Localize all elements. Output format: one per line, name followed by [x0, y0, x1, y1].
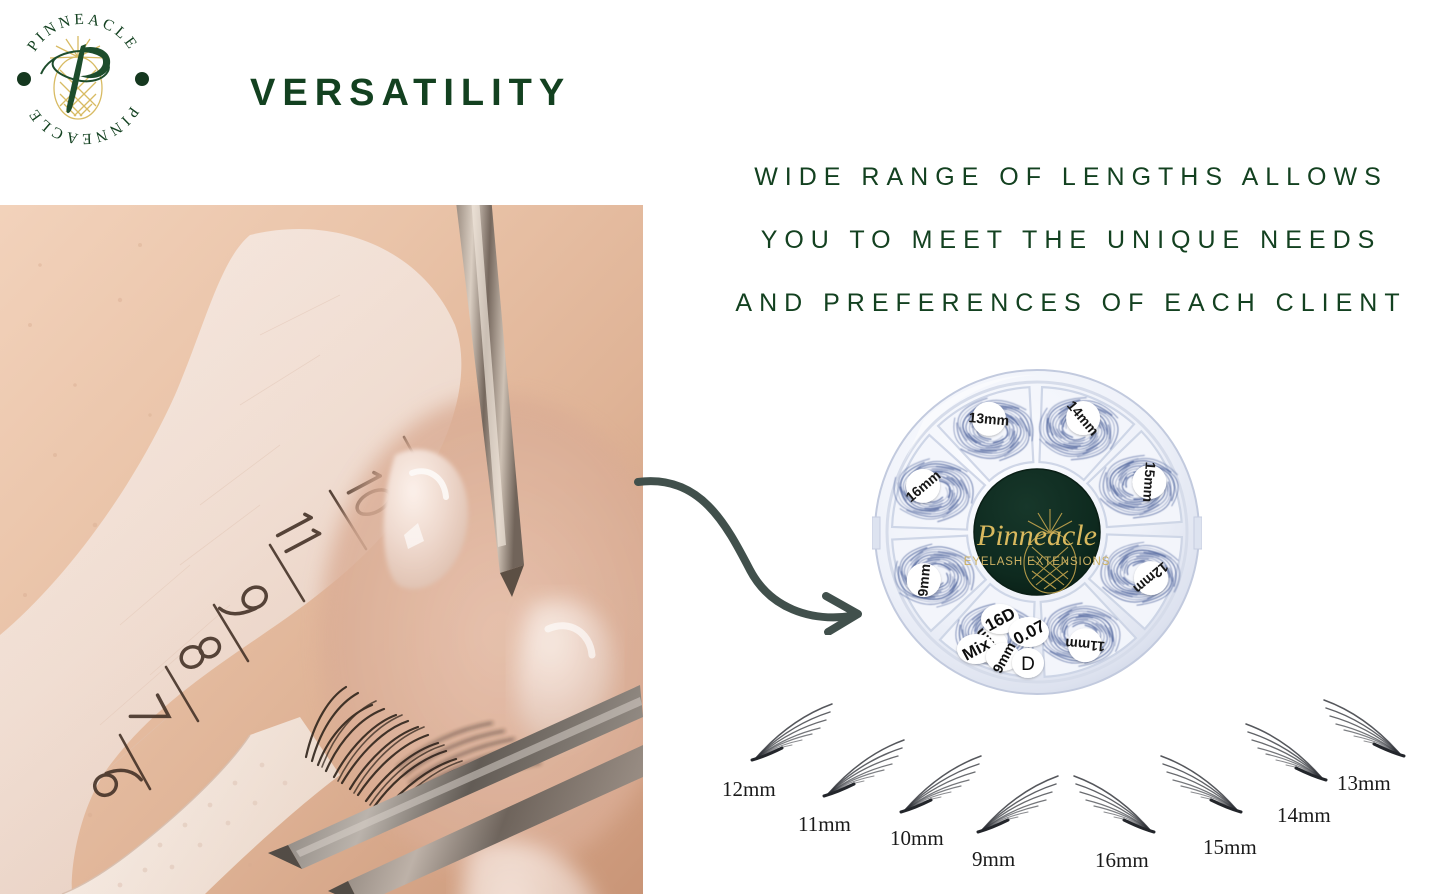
lash-fan-label-14mm: 14mm	[1277, 803, 1331, 828]
tray-sticker-9mm: 9mm	[907, 563, 941, 597]
lash-fan-15mm	[1155, 752, 1247, 818]
tray-brand-script: Pinneacle	[976, 519, 1097, 552]
tagline-block: WIDE RANGE OF LENGTHS ALLOWS YOU TO MEET…	[700, 146, 1442, 335]
logo-dot-right	[135, 72, 149, 86]
spec-sticker-D: D	[1012, 648, 1044, 678]
lash-fan-label-9mm: 9mm	[972, 847, 1015, 872]
logo-dot-left	[17, 72, 31, 86]
svg-text:9mm: 9mm	[914, 563, 933, 597]
lash-extension-tray[interactable]: Pinneacle EYELASH EXTENSIONS 14mm15mm12m…	[872, 367, 1202, 697]
tagline-line-1: WIDE RANGE OF LENGTHS ALLOWS	[700, 146, 1442, 209]
lash-fan-label-10mm: 10mm	[890, 826, 944, 851]
svg-text:D: D	[1021, 654, 1035, 675]
lash-fan-label-11mm: 11mm	[798, 812, 851, 837]
tagline-line-3: AND PREFERENCES OF EACH CLIENT	[700, 272, 1442, 335]
lash-fan-label-15mm: 15mm	[1203, 835, 1257, 860]
tray-brand-subtitle: EYELASH EXTENSIONS	[964, 556, 1111, 568]
lash-fan-13mm	[1318, 696, 1410, 762]
page-title: VERSATILITY	[250, 72, 571, 115]
lash-fan-16mm	[1068, 772, 1160, 838]
curved-pointer-arrow	[630, 470, 880, 635]
svg-text:PINNEACLE: PINNEACLE	[24, 104, 142, 148]
lash-fan-label-12mm: 12mm	[722, 777, 776, 802]
brand-logo: PINNEACLE PINNEACLE	[8, 4, 158, 154]
lash-fan-label-16mm: 16mm	[1095, 848, 1149, 873]
lash-fan-9mm	[972, 772, 1064, 838]
lash-fan-label-13mm: 13mm	[1337, 771, 1391, 796]
logo-ring-text-bottom: PINNEACLE	[24, 104, 142, 148]
svg-text:15mm: 15mm	[1140, 461, 1159, 502]
lash-application-photo	[0, 205, 643, 894]
tagline-line-2: YOU TO MEET THE UNIQUE NEEDS	[700, 209, 1442, 272]
